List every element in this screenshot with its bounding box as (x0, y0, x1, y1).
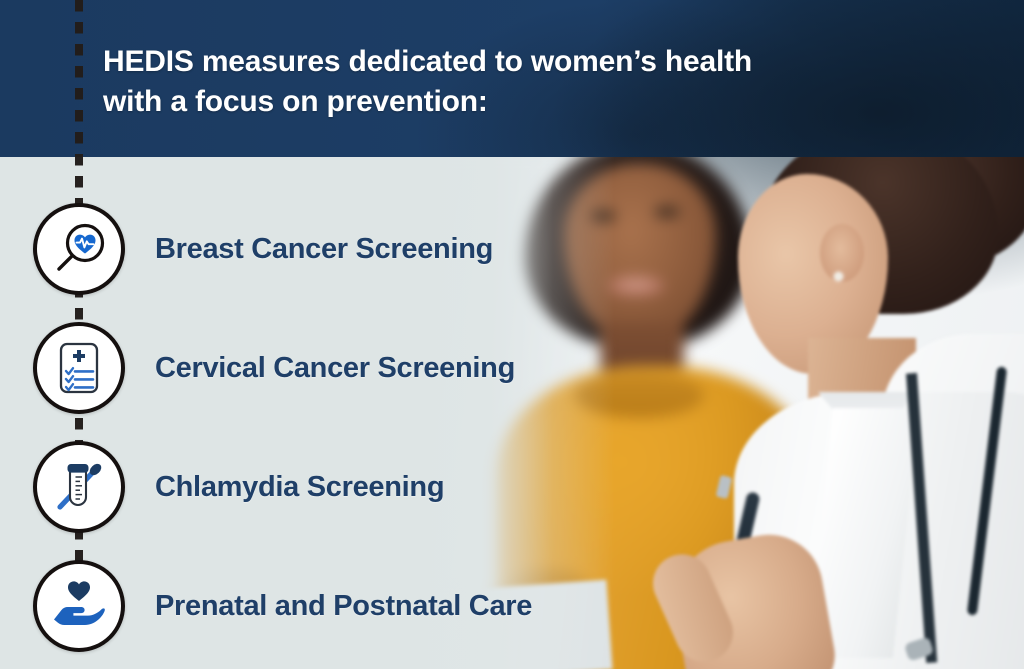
test-tube-swab-icon (33, 441, 125, 533)
measure-item-cervical-cancer-screening[interactable]: Cervical Cancer Screening (0, 320, 515, 416)
measures-list: Breast Cancer Screening Cervical Cancer … (0, 0, 1024, 669)
clipboard-checklist-plus-icon (33, 322, 125, 414)
infographic-poster: HEDIS measures dedicated to women’s heal… (0, 0, 1024, 669)
measure-item-prenatal-postnatal-care[interactable]: Prenatal and Postnatal Care (0, 558, 532, 654)
magnifier-heart-pulse-icon (33, 203, 125, 295)
measure-label: Cervical Cancer Screening (155, 352, 515, 385)
hand-holding-heart-icon (33, 560, 125, 652)
measure-item-breast-cancer-screening[interactable]: Breast Cancer Screening (0, 201, 493, 297)
measure-label: Prenatal and Postnatal Care (155, 590, 532, 623)
measure-item-chlamydia-screening[interactable]: Chlamydia Screening (0, 439, 444, 535)
measure-label: Breast Cancer Screening (155, 233, 493, 266)
measure-label: Chlamydia Screening (155, 471, 444, 504)
dashed-timeline-connector-header (75, 0, 83, 157)
